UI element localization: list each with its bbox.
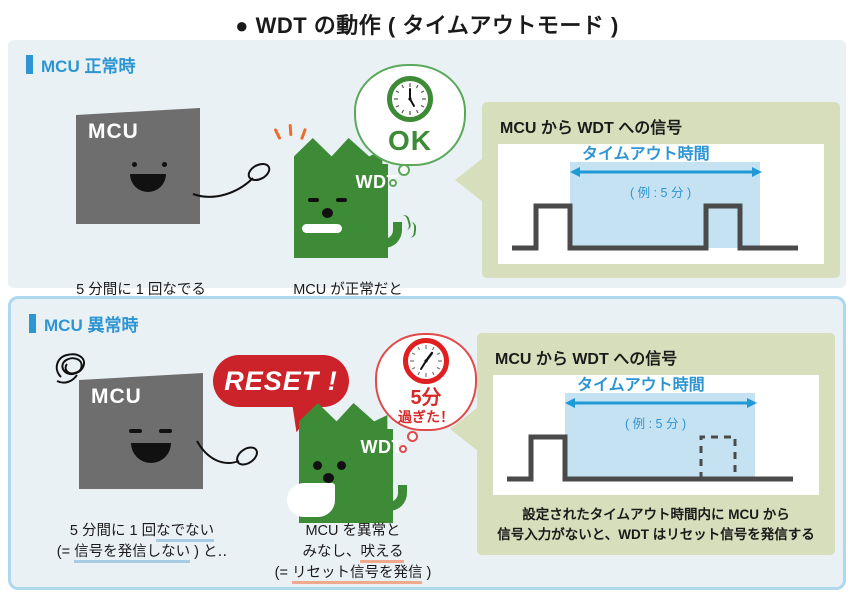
reset-label: RESET ! [224, 366, 338, 397]
caption-abnormal-right: MCU を異常と みなし、吠える (= リセット信号を発信 ) [253, 521, 453, 584]
wdt-open-mouth-icon [287, 483, 335, 517]
thought-bubble-dot-1 [407, 431, 418, 442]
section-mcu-abnormal: MCU 異常時 MCU RESET ! [8, 296, 846, 590]
panel-title: MCU から WDT への信号 [495, 345, 677, 369]
signal-plot-normal: タイムアウト時間 ( 例 : 5 分 ) [498, 144, 824, 264]
caption-line-3: (= リセット信号を発信 ) [253, 563, 453, 584]
section-heading-label: MCU 正常時 [41, 52, 135, 77]
signal-plot-abnormal: タイムアウト時間 ( 例 : 5 分 ) [493, 375, 819, 495]
wdt-nose-icon [322, 208, 333, 218]
wdt-snout-icon [302, 224, 342, 233]
clock-icon-green [387, 76, 433, 122]
wdt-tail-icon [380, 222, 402, 248]
wdt-wag-2-icon [409, 222, 416, 238]
signal-panel-abnormal: MCU から WDT への信号 タイムアウト時間 ( 例 : 5 分 ) 設定さ… [477, 333, 835, 555]
wdt-label: WDT [361, 437, 403, 458]
wdt-tail-icon [385, 485, 407, 511]
caption-line-2: みなし、吠える [253, 542, 453, 563]
caption-underlined-text: 吠える [360, 544, 403, 563]
ok-label: OK [388, 127, 432, 155]
section-bar-icon [26, 55, 33, 74]
thought-bubble-ok: OK [354, 64, 466, 166]
mcu-eye-left-icon [132, 162, 137, 167]
section-heading-normal: MCU 正常時 [26, 52, 135, 77]
panel-title: MCU から WDT への信号 [500, 114, 682, 138]
section-mcu-normal: MCU 正常時 MCU WDT [8, 40, 846, 288]
caption-line-2: (= 信号を発信しない ) と‥ [37, 542, 247, 563]
wdt-eye-left-icon [308, 198, 319, 202]
caption-underlined-text: リセット信号を発信 [292, 565, 423, 584]
section-heading-label: MCU 異常時 [44, 311, 138, 336]
mcu-character-abnormal: MCU [79, 373, 203, 489]
panel-arrow-notch-icon [450, 407, 478, 451]
wdt-eye-right-icon [337, 461, 346, 470]
wdt-timeout-mode-figure: ● WDT の動作 ( タイムアウトモード ) MCU 正常時 MCU [0, 0, 854, 598]
timeout-expired-label: 過ぎた！ [398, 409, 454, 425]
mcu-eye-right-icon [159, 429, 172, 433]
thought-bubble-dot-2 [389, 179, 397, 187]
panel-note-line-2: 信号入力がないと、WDT はリセット信号を発信する [477, 525, 835, 545]
waveform-abnormal [493, 375, 819, 495]
reset-speech-bubble: RESET ! [213, 355, 349, 407]
signal-panel-normal: MCU から WDT への信号 タイムアウト時間 ( 例 : 5 分 ) [482, 102, 840, 278]
mcu-eye-right-icon [162, 162, 167, 167]
caption-line-1: 5 分間に 1 回なでない [37, 521, 247, 542]
caption-text: みなし、 [302, 544, 360, 560]
sparkle-1-icon [274, 128, 282, 140]
wdt-eye-right-icon [336, 198, 347, 202]
caption-underlined-text: なでない [156, 523, 214, 542]
wdt-character-abnormal: WDT [299, 403, 407, 523]
mcu-arm-drooping [197, 441, 283, 487]
sparkle-2-icon [289, 124, 293, 136]
section-bar-icon [29, 314, 36, 333]
caption-text: (= [275, 565, 292, 581]
panel-note-line-1: 設定されたタイムアウト時間内に MCU から [477, 505, 835, 525]
caption-underlined-text: 信号を発信しない [74, 544, 190, 563]
section-heading-abnormal: MCU 異常時 [29, 311, 138, 336]
mcu-arm-petting [193, 158, 283, 208]
caption-abnormal-left: 5 分間に 1 回なでない (= 信号を発信しない ) と‥ [37, 521, 247, 563]
caption-text: (= [57, 544, 74, 560]
mcu-label: MCU [91, 385, 142, 409]
timeout-minutes-label: 5分 [410, 388, 441, 409]
mcu-eye-left-icon [129, 429, 142, 433]
waveform-normal [498, 144, 824, 264]
panel-arrow-notch-icon [455, 158, 483, 202]
caption-text: ) と‥ [190, 544, 227, 560]
wdt-nose-icon [323, 473, 334, 483]
mcu-character-normal: MCU [76, 108, 200, 224]
panel-note-abnormal: 設定されたタイムアウト時間内に MCU から 信号入力がないと、WDT はリセッ… [477, 505, 835, 544]
caption-text: ) [422, 565, 431, 581]
caption-line-1: MCU を異常と [253, 521, 453, 542]
clock-icon-red [403, 338, 449, 384]
thought-bubble-dot-1 [398, 164, 410, 176]
mcu-label: MCU [88, 120, 139, 144]
thought-bubble-dot-2 [399, 445, 407, 453]
caption-text: 5 分間に 1 回 [70, 523, 156, 539]
wdt-eye-left-icon [313, 461, 322, 470]
page-title: ● WDT の動作 ( タイムアウトモード ) [0, 8, 854, 40]
